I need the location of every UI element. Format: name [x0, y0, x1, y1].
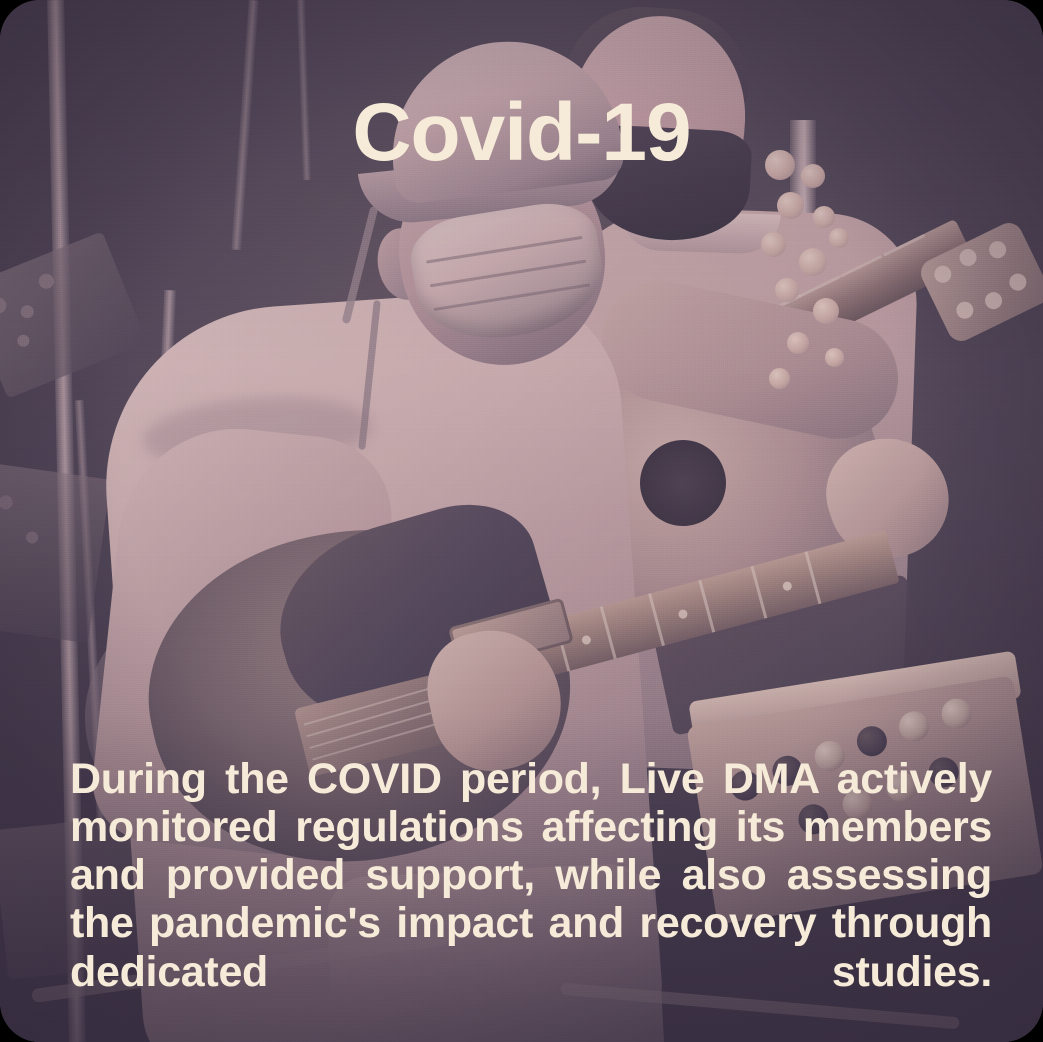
description-paragraph: During the COVID period, Live DMA active… — [70, 755, 992, 1042]
covid-19-info-card: Covid-19 During the COVID period, Live D… — [0, 0, 1043, 1042]
page-title: Covid-19 — [0, 92, 1043, 174]
